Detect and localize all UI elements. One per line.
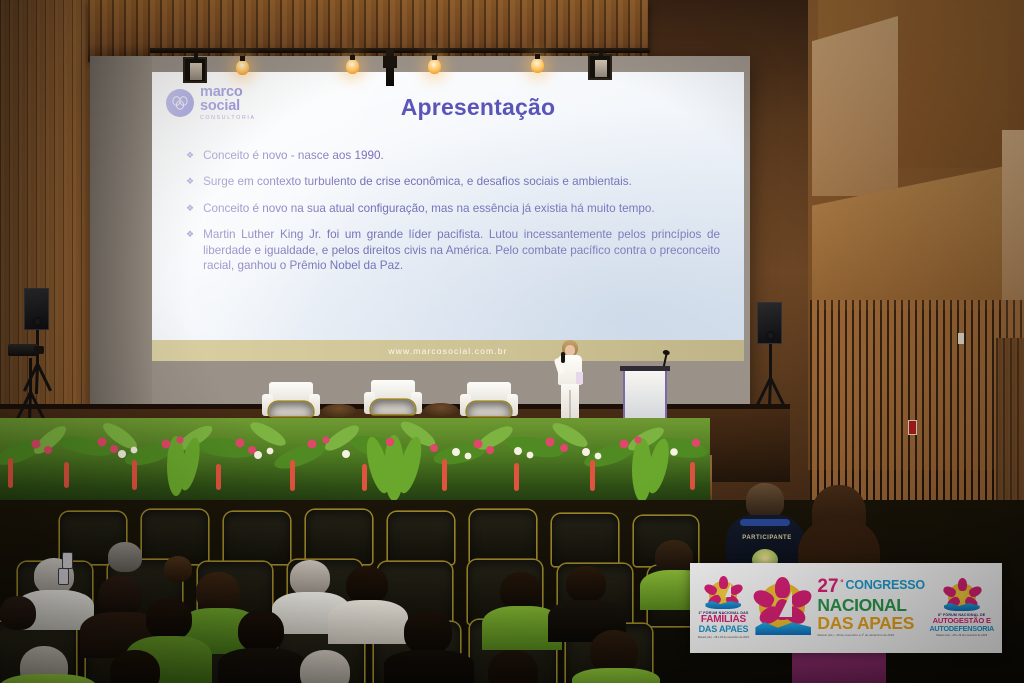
list-item: ❖ Conceito é novo na sua atual configura… <box>186 201 720 216</box>
autogestao-autodefensoria-logo: 8º FÓRUM NACIONAL DE AUTOGESTÃO E AUTODE… <box>929 579 994 637</box>
stage-light-fixture-icon <box>588 54 612 80</box>
attendee-shoulders <box>218 648 306 683</box>
floral-arrangement <box>0 418 710 510</box>
attendee-head <box>196 572 240 612</box>
attendee-shoulders <box>328 600 408 644</box>
familias-das-apaes-logo: 1º FÓRUM NACIONAL DAS FAMÍLIAS DAS APAES… <box>698 577 749 639</box>
congress-das-apaes: DAS APAES <box>817 615 925 633</box>
slide-title: Apresentação <box>152 94 744 121</box>
auditorium-photo: marco social CONSULTORIA Apresentação ❖ … <box>0 0 1024 683</box>
stage-bulb-icon <box>531 58 544 73</box>
attendee-head <box>488 650 538 683</box>
attendee-head <box>300 650 350 683</box>
congress-number: 27 <box>817 579 838 595</box>
attendee-head <box>746 483 784 519</box>
stage-bulb-icon <box>428 59 441 74</box>
stage-side-table <box>424 403 458 416</box>
mandala-flower-icon <box>703 577 743 611</box>
wall-slat-wainscot-right <box>996 338 1024 508</box>
stage-bulb-icon <box>236 60 249 75</box>
bullet-marker-icon: ❖ <box>186 201 194 216</box>
lanyard <box>740 519 790 526</box>
slide-bullet-list: ❖ Conceito é novo - nasce aos 1990. ❖ Su… <box>186 148 720 284</box>
bullet-marker-icon: ❖ <box>186 227 194 273</box>
projected-slide: marco social CONSULTORIA Apresentação ❖ … <box>152 72 744 360</box>
attendee-shoulders <box>384 650 474 683</box>
slide-footer-url: www.marcosocial.com.br <box>388 346 507 356</box>
mandala-wave-icon <box>942 579 982 613</box>
forum-date: Maceió (AL) - 28 e 29 de novembro de 202… <box>698 636 749 639</box>
bullet-text: Martin Luther King Jr. foi um grande líd… <box>203 227 720 273</box>
attendee-head <box>164 556 192 582</box>
auditorium-seat <box>224 512 290 564</box>
handheld-microphone-icon <box>561 352 565 363</box>
stage-armchair <box>460 382 518 420</box>
presenter <box>552 340 588 418</box>
attendee-head <box>146 598 192 640</box>
auditorium-seat <box>552 514 618 566</box>
congresso-nacional-logo: 27 º CONGRESSO NACIONAL DAS APAES Maceió… <box>753 579 925 637</box>
camera-tripod-stand <box>8 358 52 422</box>
bullet-marker-icon: ❖ <box>186 174 194 189</box>
wall-switch-plate <box>958 333 964 344</box>
attendee-head <box>655 540 693 574</box>
attendee-shoulders <box>572 668 660 683</box>
wall-slat-wainscot <box>810 300 1024 500</box>
congress-date: Maceió (AL) - 29 de novembro a 1º de dez… <box>817 634 925 637</box>
list-item: ❖ Surge em contexto turbulento de crise … <box>186 174 720 189</box>
fire-extinguisher-sign <box>908 420 917 435</box>
lighting-truss <box>150 48 650 53</box>
congress-nacional: NACIONAL <box>817 597 925 615</box>
attendee-head <box>110 650 160 683</box>
slide-footer-bar: www.marcosocial.com.br <box>152 340 744 361</box>
pa-speaker <box>757 302 782 344</box>
shirt-badge-text: PARTICIPANTE <box>736 535 798 541</box>
stage-side-table <box>322 404 356 417</box>
stage-armchair <box>364 380 422 418</box>
truss-drop-arm <box>386 48 394 86</box>
bullet-text: Conceito é novo - nasce aos 1990. <box>203 148 384 163</box>
attendee-phone <box>62 552 73 569</box>
attendee-phone <box>58 568 69 585</box>
forum-das-apaes: DAS APAES <box>699 625 749 634</box>
auditorium-seat <box>470 510 536 564</box>
congress-degree: º <box>841 579 844 587</box>
attendee-head <box>566 566 606 602</box>
stage-armchair <box>262 382 320 420</box>
pa-speaker <box>24 288 49 330</box>
presenter-legs <box>561 384 579 418</box>
congress-word: CONGRESSO <box>845 579 924 592</box>
bullet-text: Surge em contexto turbulento de crise ec… <box>203 174 632 189</box>
auditorium-seat <box>306 510 372 564</box>
podium <box>620 366 670 424</box>
auditorium-seat <box>388 512 454 564</box>
event-logo-banner: 1º FÓRUM NACIONAL DAS FAMÍLIAS DAS APAES… <box>690 563 1002 653</box>
stage-light-fixture-icon <box>183 57 207 83</box>
list-item: ❖ Conceito é novo - nasce aos 1990. <box>186 148 720 163</box>
forum-date: Maceió (AL) - 28 e 29 de novembro de 202… <box>936 634 987 637</box>
list-item: ❖ Martin Luther King Jr. foi um grande l… <box>186 227 720 273</box>
attendee-head <box>404 610 452 654</box>
speaker-tripod-stand <box>748 344 792 408</box>
attendee-head <box>290 560 330 596</box>
forum-autodefensoria: AUTODEFENSORIA <box>929 625 994 633</box>
mandala-boat-icon <box>753 579 813 637</box>
bullet-text: Conceito é novo na sua atual configuraçã… <box>203 201 655 216</box>
attendee-head <box>0 596 36 630</box>
bullet-marker-icon: ❖ <box>186 148 194 163</box>
projection-screen-left-margin <box>90 56 152 422</box>
acoustic-panel-c <box>812 16 898 196</box>
acoustic-panel-d <box>896 0 1008 168</box>
attendee-head <box>238 610 284 652</box>
stage-bulb-icon <box>346 59 359 74</box>
attendee-head <box>108 542 142 572</box>
attendee-head <box>500 572 542 610</box>
presenter-notes <box>576 372 583 384</box>
attendee-head <box>346 566 388 604</box>
attendee-head <box>98 576 142 616</box>
video-camera <box>8 340 44 360</box>
